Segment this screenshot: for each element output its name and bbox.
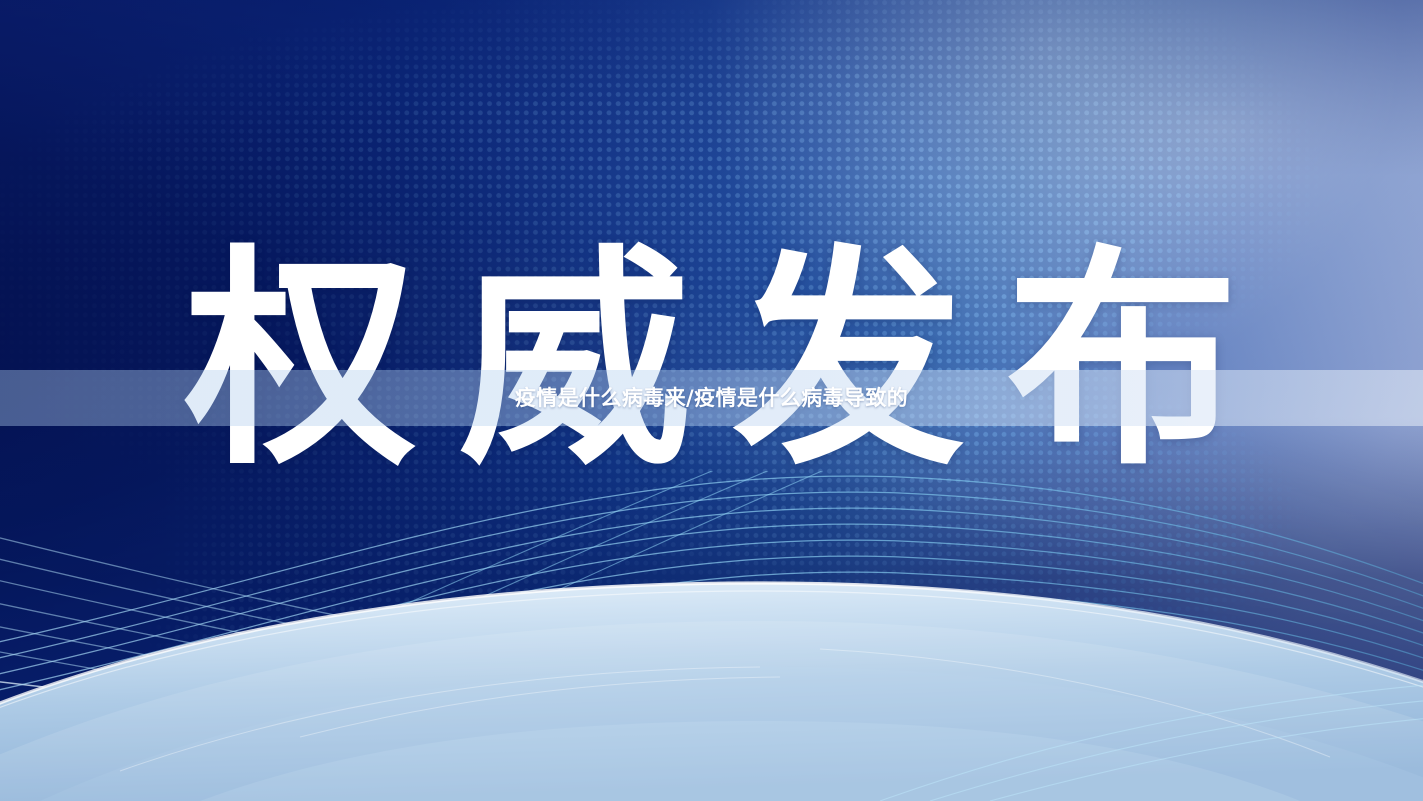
caption-text: 疫情是什么病毒来/疫情是什么病毒导致的	[515, 385, 908, 411]
page-title: 权威发布	[0, 236, 1423, 486]
caption-band: 疫情是什么病毒来/疫情是什么病毒导致的	[0, 370, 1423, 426]
banner-image: 权威发布 疫情是什么病毒来/疫情是什么病毒导致的	[0, 0, 1423, 801]
earth-horizon-graphic	[0, 471, 1423, 801]
